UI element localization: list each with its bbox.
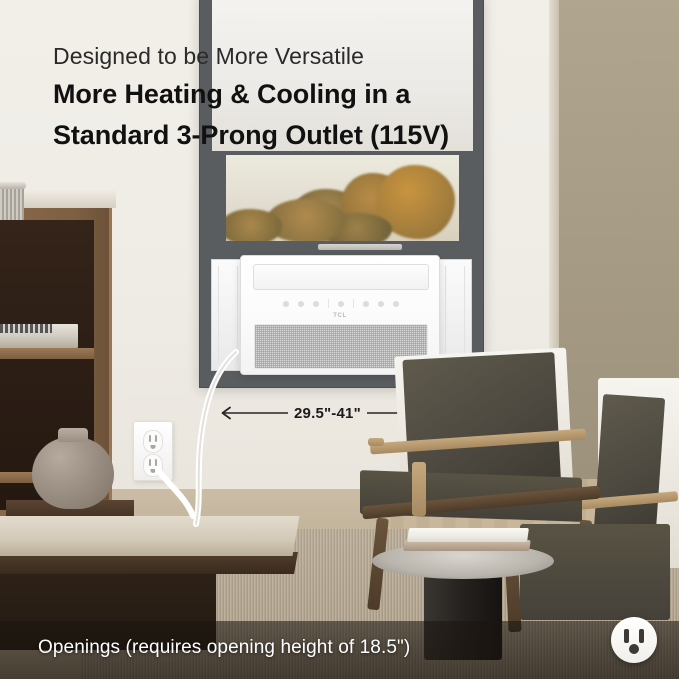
- window-sash-handle: [318, 244, 402, 250]
- control-divider: [353, 299, 354, 308]
- decor-canister-lid: [0, 182, 26, 189]
- outlet-slot-icon: [155, 459, 157, 466]
- chair-seat-cushion: [520, 524, 670, 620]
- window-outside-view: [226, 155, 459, 241]
- outlet-ground-icon: [151, 445, 156, 449]
- outlet-socket-top: [143, 430, 163, 453]
- control-button-icon[interactable]: [363, 301, 369, 307]
- outlet-slot-icon: [155, 435, 157, 442]
- control-button-icon[interactable]: [283, 301, 289, 307]
- outlet-slot-icon: [149, 459, 151, 466]
- outlet-socket-bottom: [143, 454, 163, 477]
- outlet-slot-icon: [639, 629, 644, 643]
- vase-neck: [58, 428, 88, 442]
- dimension-label: 29.5"-41": [294, 405, 361, 422]
- tree: [226, 209, 282, 241]
- stacked-books: [407, 528, 529, 542]
- decor-canister: [0, 186, 24, 220]
- brand-logo: TCL: [241, 313, 439, 319]
- ceramic-vase: [32, 437, 114, 509]
- headline-block: Designed to be More Versatile More Heati…: [53, 42, 613, 154]
- wall-outlet: [133, 421, 173, 481]
- outlet-ground-icon: [151, 469, 156, 473]
- chair-rail-end: [368, 438, 384, 446]
- cabinet-shelf: [0, 348, 94, 359]
- outlet-slot-icon: [149, 435, 151, 442]
- display-icon: [338, 301, 344, 307]
- power-button-icon[interactable]: [393, 301, 399, 307]
- air-louvre: [253, 264, 429, 290]
- control-button-icon[interactable]: [378, 301, 384, 307]
- headline-line-1: More Heating & Cooling in a: [53, 77, 613, 113]
- caption-text: Openings (requires opening height of 18.…: [38, 637, 410, 659]
- shelf-books: [0, 324, 78, 348]
- control-panel[interactable]: [283, 298, 399, 309]
- headline-line-2: Standard 3-Prong Outlet (115V): [53, 118, 613, 154]
- outlet-slot-icon: [624, 629, 629, 643]
- control-divider: [328, 299, 329, 308]
- coffee-table-top: [0, 516, 300, 556]
- three-prong-outlet-icon: [611, 617, 657, 663]
- arrow-left-icon: [216, 406, 288, 420]
- kicker-text: Designed to be More Versatile: [53, 42, 613, 71]
- product-feature-image: TCL 29.5"-41": [0, 0, 679, 679]
- outlet-ground-icon: [629, 644, 639, 654]
- control-button-icon[interactable]: [298, 301, 304, 307]
- chair-back-support: [412, 462, 426, 516]
- control-button-icon[interactable]: [313, 301, 319, 307]
